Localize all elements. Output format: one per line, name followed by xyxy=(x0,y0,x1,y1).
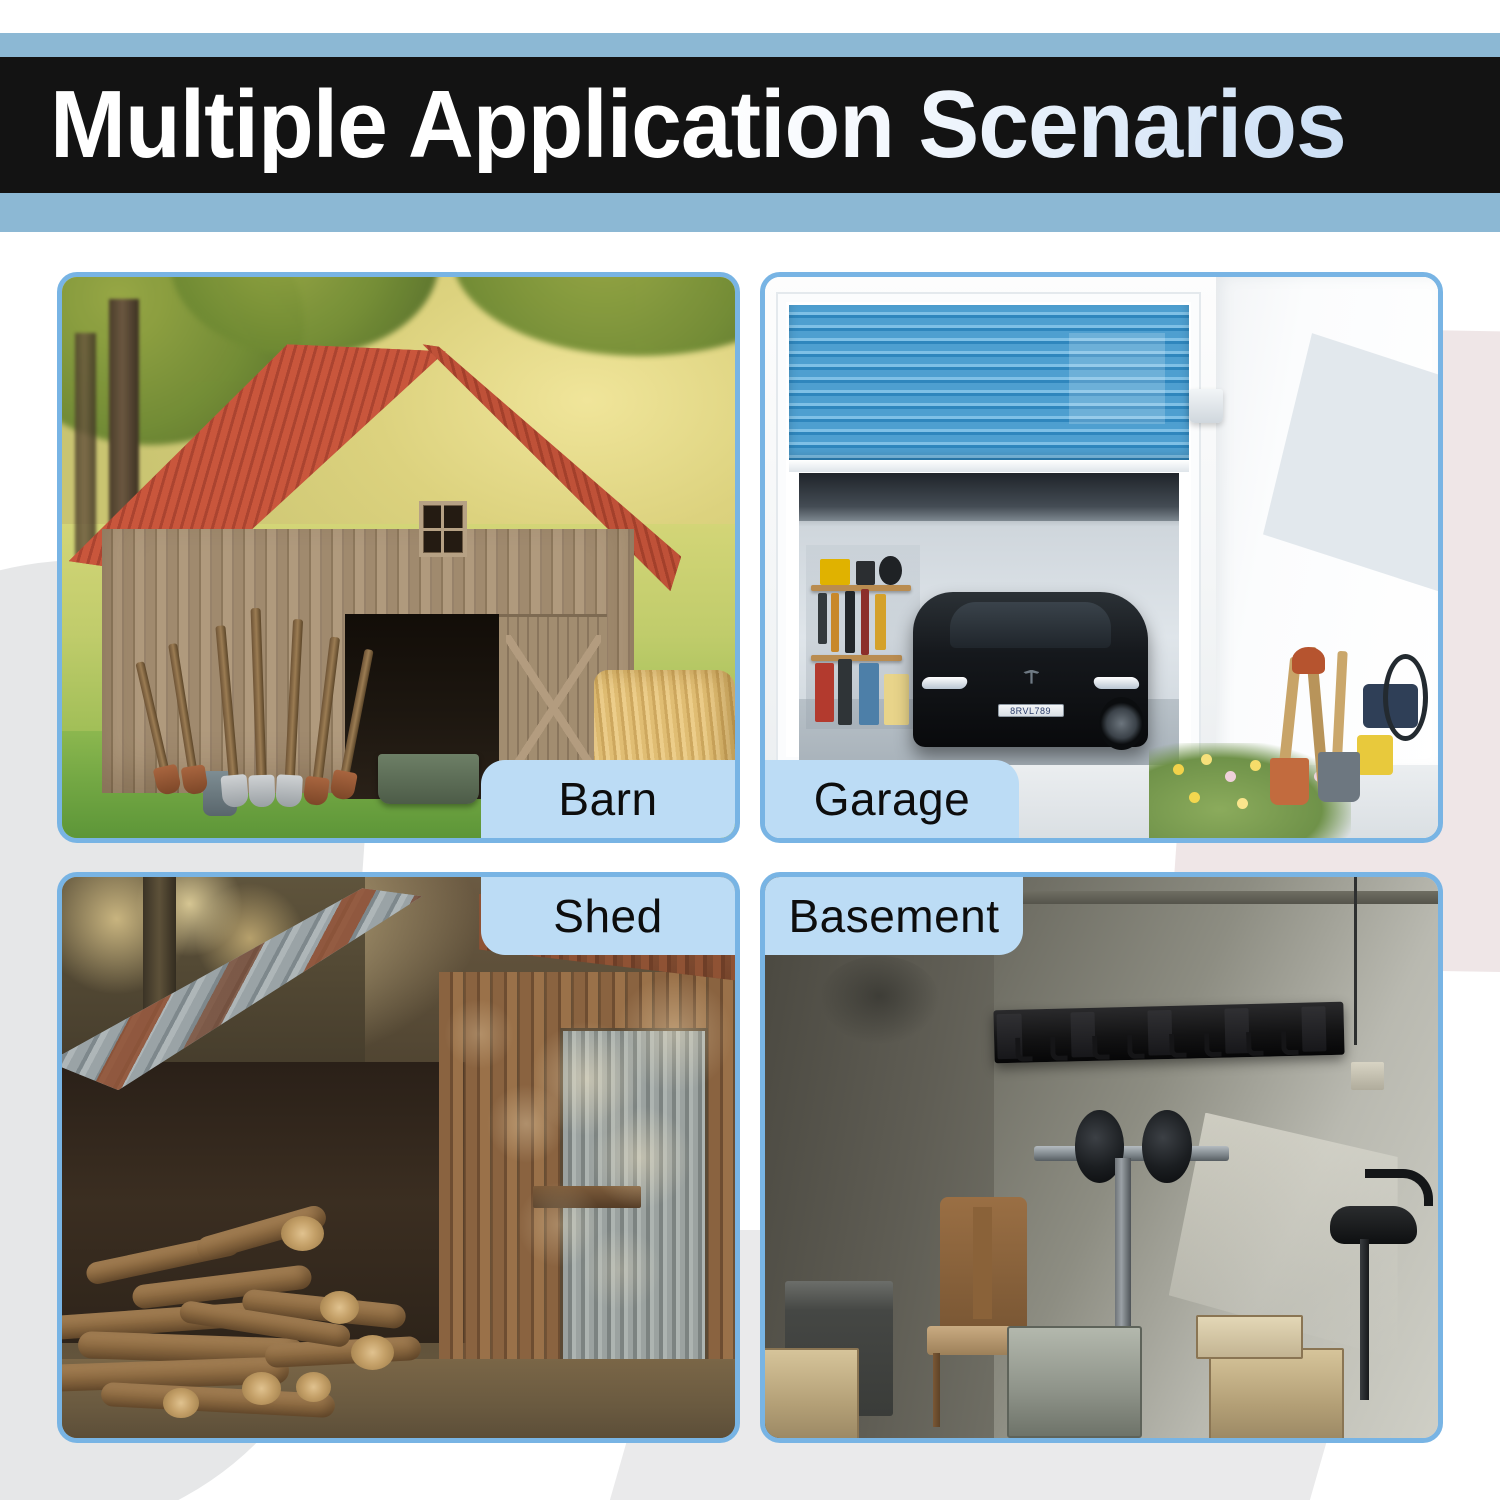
page-title: Multiple Application Scenarios xyxy=(50,77,1346,173)
garage-scene-image: 8RVL789 xyxy=(765,277,1438,838)
infographic-page: Multiple Application Scenarios xyxy=(0,0,1500,1500)
scenario-label-barn: Barn xyxy=(481,760,735,838)
barn-scene-image xyxy=(62,277,735,838)
scenario-tile-barn[interactable]: Barn xyxy=(57,272,740,843)
wheelbarrow xyxy=(378,754,479,804)
scenario-label-shed: Shed xyxy=(481,877,735,955)
tool-wall xyxy=(806,545,920,729)
scenario-label-basement: Basement xyxy=(765,877,1023,955)
car-logo-icon xyxy=(1023,670,1039,684)
scenario-tile-basement[interactable]: Basement xyxy=(760,872,1443,1443)
basement-scene-image xyxy=(765,877,1438,1438)
parked-car: 8RVL789 xyxy=(913,592,1149,747)
storage-crate xyxy=(1196,1315,1304,1360)
exercise-bike xyxy=(1324,1169,1438,1438)
wall-storage-rail xyxy=(993,1002,1344,1064)
scenario-grid: Barn xyxy=(57,272,1443,1443)
firewood-pile xyxy=(62,1141,452,1410)
wall-lamp xyxy=(1189,389,1223,423)
wall-socket xyxy=(1351,1062,1385,1090)
outdoor-tools xyxy=(1270,647,1432,815)
scenario-tile-shed[interactable]: Shed xyxy=(57,872,740,1443)
garage-interior: 8RVL789 xyxy=(799,473,1179,770)
header-black-bar: Multiple Application Scenarios xyxy=(0,57,1500,193)
scenario-tile-garage[interactable]: 8RVL789 xyxy=(760,272,1443,843)
storage-crate xyxy=(765,1348,859,1438)
weight-plate xyxy=(1142,1110,1192,1183)
scenario-label-garage: Garage xyxy=(765,760,1019,838)
license-plate: 8RVL789 xyxy=(998,704,1064,718)
shed-scene-image xyxy=(62,877,735,1438)
barbell xyxy=(1034,1146,1229,1161)
storage-trunk xyxy=(1007,1326,1142,1438)
roller-shutter-door xyxy=(789,305,1189,462)
barn-window xyxy=(419,501,467,557)
